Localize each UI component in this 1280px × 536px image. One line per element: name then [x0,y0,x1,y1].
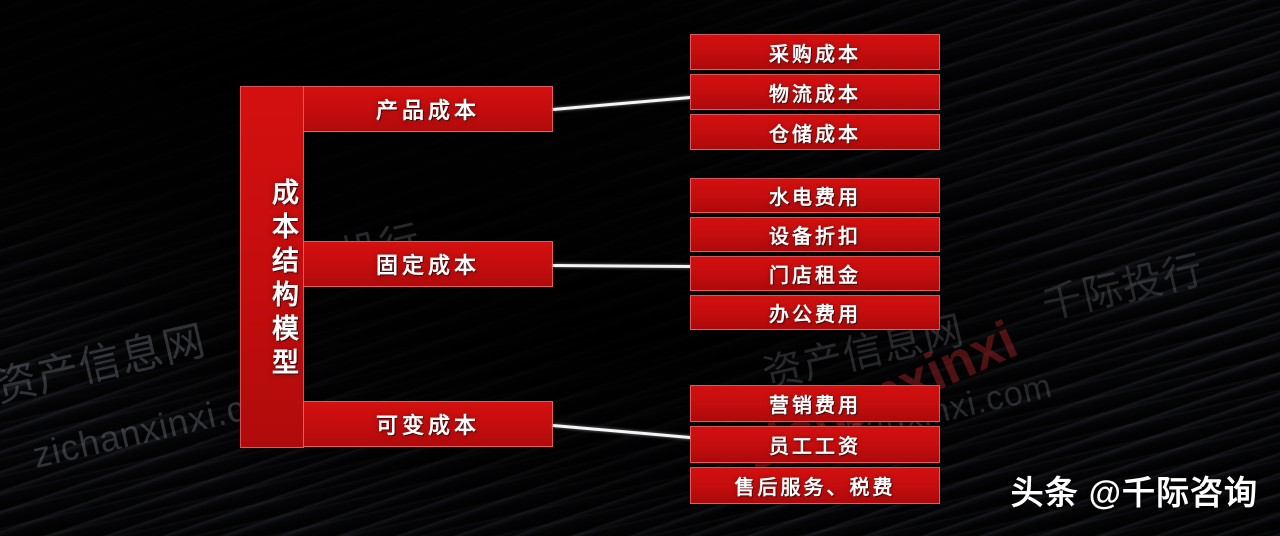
branch-node-product-cost[interactable]: 产品成本 [303,86,553,132]
branch-node-variable-cost[interactable]: 可变成本 [303,401,553,447]
leaf-node-procurement-cost[interactable]: 采购成本 [690,34,940,70]
leaf-node-warehousing-cost[interactable]: 仓储成本 [690,114,940,150]
leaf-node-utilities-expense[interactable]: 水电费用 [690,178,940,213]
root-node-cost-structure-model[interactable]: 成本结构模型 [240,86,304,448]
leaf-node-marketing-expense[interactable]: 营销费用 [690,385,940,422]
leaf-node-aftersales-and-tax[interactable]: 售后服务、税费 [690,467,940,504]
leaf-group-variable-cost: 营销费用 员工工资 售后服务、税费 [690,385,940,508]
branch-node-fixed-cost[interactable]: 固定成本 [303,241,553,287]
diagram-canvas: 资产信息网 zichanxinxi.com 资产信息网 zichanxinxi.… [0,0,1280,536]
background-vignette-edge [0,0,1280,536]
leaf-group-fixed-cost: 水电费用 设备折扣 门店租金 办公费用 [690,178,940,334]
leaf-node-employee-salary[interactable]: 员工工资 [690,426,940,463]
leaf-node-equipment-discount[interactable]: 设备折扣 [690,217,940,252]
leaf-node-store-rent[interactable]: 门店租金 [690,256,940,291]
leaf-node-logistics-cost[interactable]: 物流成本 [690,74,940,110]
brand-watermark: 头条 @千际咨询 [1011,466,1258,514]
leaf-group-product-cost: 采购成本 物流成本 仓储成本 [690,34,940,154]
leaf-node-office-expense[interactable]: 办公费用 [690,295,940,330]
